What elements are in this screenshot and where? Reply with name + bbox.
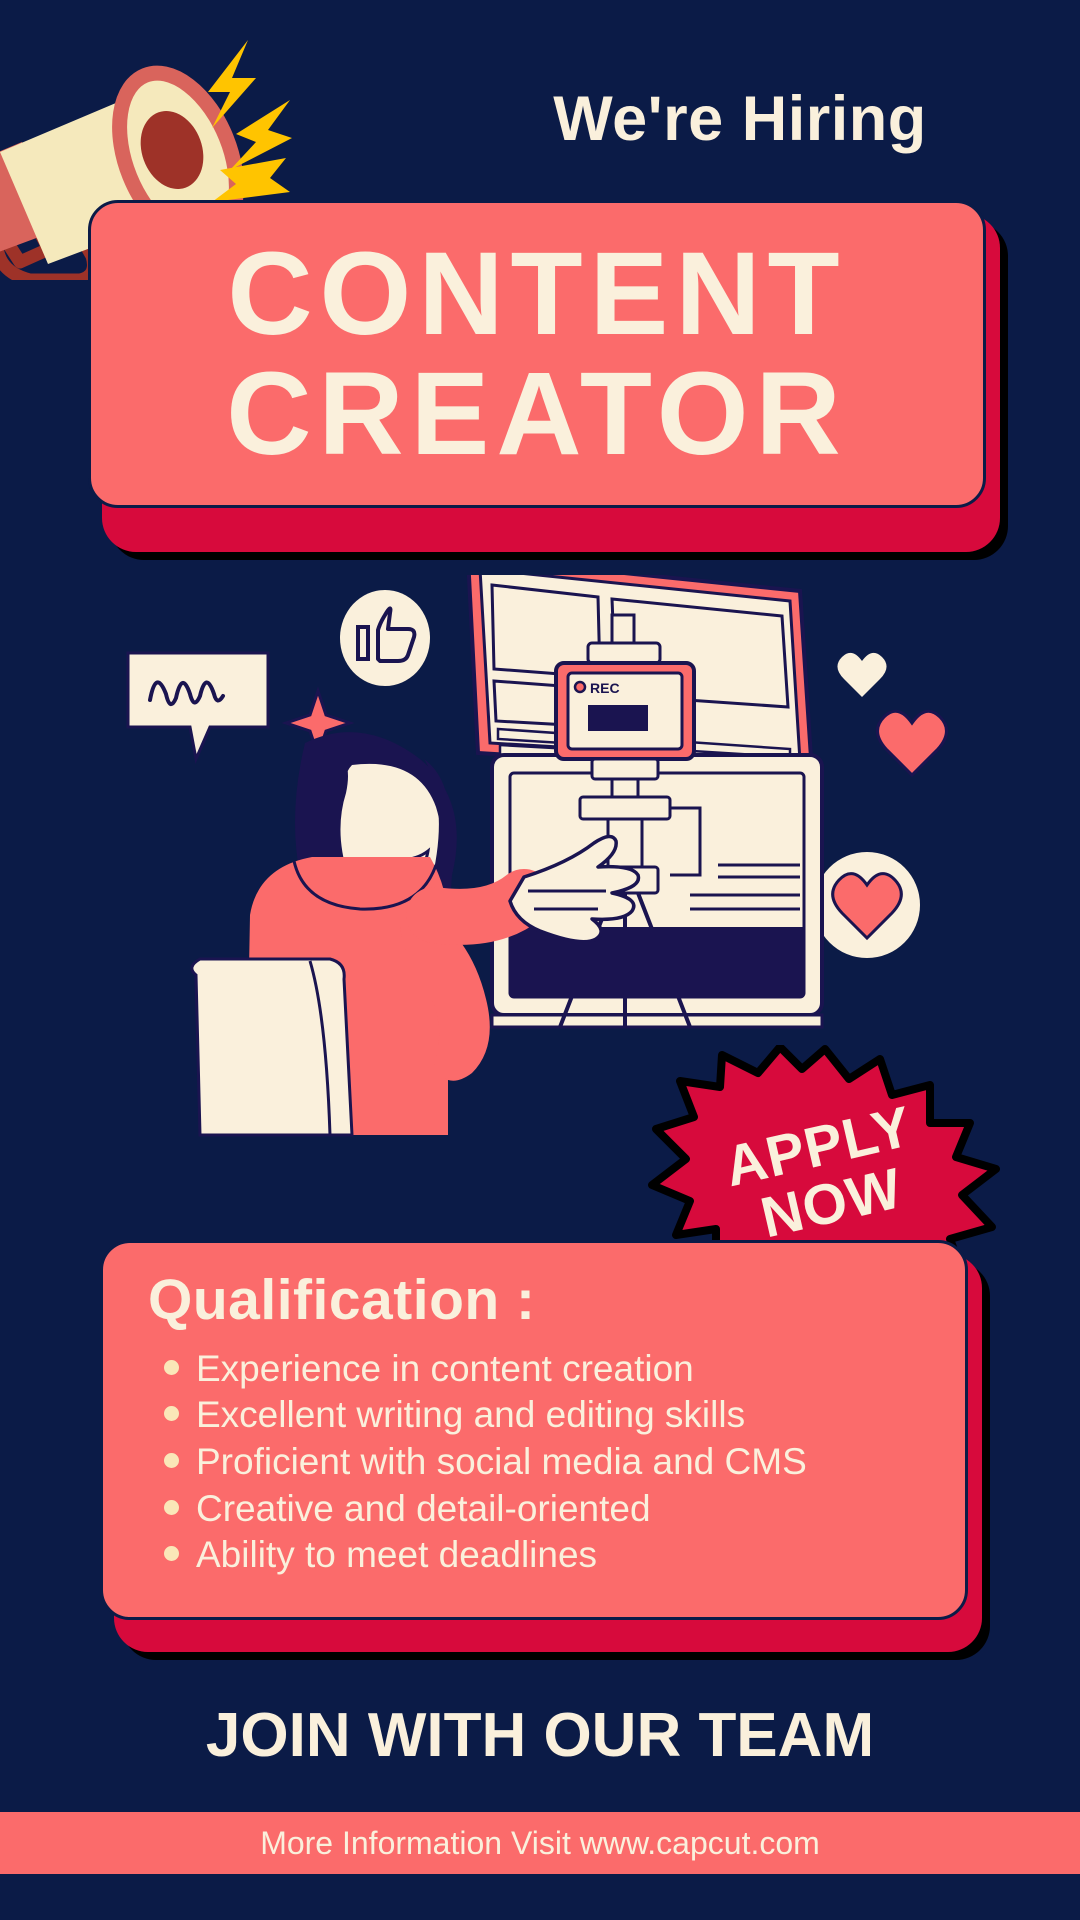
- bullet-icon: [164, 1360, 179, 1375]
- qualification-card: Qualification : Experience in content cr…: [100, 1240, 990, 1660]
- list-item-label: Experience in content creation: [196, 1346, 694, 1393]
- speech-bubble-icon: [128, 653, 268, 759]
- page-title: We're Hiring: [430, 88, 1050, 151]
- footer-bar: More Information Visit www.capcut.com: [0, 1812, 1080, 1874]
- rec-label: REC: [590, 680, 620, 696]
- list-item: Creative and detail-oriented: [148, 1486, 925, 1533]
- bullet-icon: [164, 1453, 179, 1468]
- list-item: Excellent writing and editing skills: [148, 1392, 925, 1439]
- list-item-label: Creative and detail-oriented: [196, 1486, 651, 1533]
- qualification-list: Experience in content creation Excellent…: [148, 1346, 925, 1579]
- qual-card-face: Qualification : Experience in content cr…: [100, 1240, 968, 1620]
- list-item: Proficient with social media and CMS: [148, 1439, 925, 1486]
- poster-root: We're Hiring CONTENT CREATOR: [0, 0, 1080, 1920]
- list-item-label: Excellent writing and editing skills: [196, 1392, 745, 1439]
- list-item: Experience in content creation: [148, 1346, 925, 1393]
- thumbs-up-icon: [340, 590, 430, 686]
- banner-face: CONTENT CREATOR: [88, 200, 986, 508]
- bullet-icon: [164, 1500, 179, 1515]
- job-title-line-2: CREATOR: [226, 354, 848, 474]
- join-team-heading: JOIN WITH OUR TEAM: [0, 1700, 1080, 1771]
- heart-badge-icon: [814, 852, 920, 958]
- bullet-icon: [164, 1406, 179, 1421]
- qualification-heading: Qualification :: [148, 1269, 925, 1332]
- job-title-banner: CONTENT CREATOR: [88, 200, 1008, 560]
- list-item-label: Ability to meet deadlines: [196, 1532, 597, 1579]
- list-item-label: Proficient with social media and CMS: [196, 1439, 807, 1486]
- bullet-icon: [164, 1546, 179, 1561]
- footer-label: More Information Visit www.capcut.com: [260, 1825, 820, 1862]
- chair-icon: [192, 959, 352, 1135]
- job-title-line-1: CONTENT: [227, 234, 846, 354]
- list-item: Ability to meet deadlines: [148, 1532, 925, 1579]
- heart-icon: [877, 711, 946, 775]
- small-heart-icon: [837, 653, 886, 697]
